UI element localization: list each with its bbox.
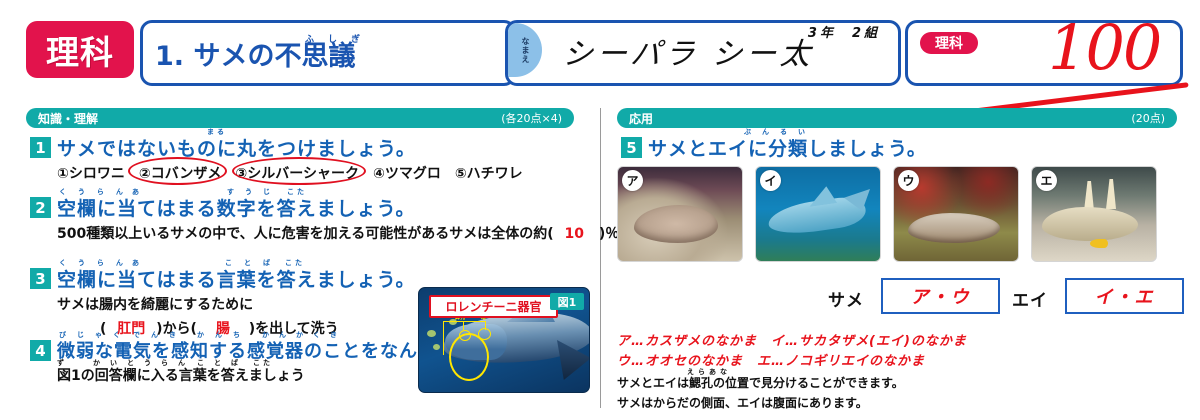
question-4-ruby-3: かんち <box>197 330 251 340</box>
question-3-ruby-1: くうらん <box>59 258 135 268</box>
note-black-line-1: えらあな サメとエイは鰓孔の位置で見分けることができます。 <box>617 374 904 391</box>
score-subject-badge: 理科 <box>920 32 978 54</box>
question-3-ruby-2: あ <box>132 258 142 268</box>
question-1-title-text: サメではないものに丸をつけましょう。 <box>57 138 416 160</box>
photo-badge-b: イ <box>760 170 781 191</box>
question-number-5: 5 <box>621 137 642 158</box>
question-2-ruby-2: あ <box>132 187 142 197</box>
figure-1-image: 鼻孔 眼 ロレンチーニ器官 図1 <box>418 287 590 393</box>
leader-line-2 <box>443 321 485 322</box>
question-4-body-ruby-3: ことば <box>197 358 248 368</box>
name-tab: なまえ <box>508 23 542 77</box>
worksheet-header: 理科 ふしぎ 1. サメの不思議 なまえ 3年 2組 シーパラ シー太 理科 1… <box>0 0 1200 100</box>
question-4-body-ruby-2: かいとうらん <box>93 358 195 368</box>
red-circle-option-2 <box>128 157 227 185</box>
question-4-ruby-1: びじゃく <box>59 330 131 340</box>
question-number-1: 1 <box>30 137 51 158</box>
leader-line-1 <box>443 321 444 355</box>
question-4-body: ず かいとうらん ことば こた 図1の回答欄に入る言葉を答えましょう <box>57 365 305 385</box>
question-4-body-ruby-1: ず <box>57 358 67 368</box>
left-column: 知識・理解 (各20点×4) 1 まる サメではないものに丸をつけましょう。 ①… <box>0 100 594 420</box>
photo-badge-d: エ <box>1036 170 1057 191</box>
question-3-ruby-4: こた <box>285 258 305 268</box>
question-4-ruby-2: でんき <box>133 330 187 340</box>
answer-label-ei: エイ <box>1012 286 1048 311</box>
figure-1-label-box: ロレンチーニ器官 <box>429 295 558 318</box>
worksheet-title-box: ふしぎ 1. サメの不思議 <box>140 20 516 86</box>
sawfish-rostrum-2 <box>1106 179 1116 209</box>
question-1-ruby: まる <box>207 127 227 137</box>
name-field-box[interactable]: なまえ 3年 2組 シーパラ シー太 <box>505 20 901 86</box>
section-points-application: (20点) <box>1131 110 1165 126</box>
bubble-decor-1 <box>427 330 436 337</box>
question-2-ruby-4: こた <box>287 187 307 197</box>
worksheet-page: 理科 ふしぎ 1. サメの不思議 なまえ 3年 2組 シーパラ シー太 理科 1… <box>0 0 1200 420</box>
name-tab-label: なまえ <box>520 37 530 64</box>
question-number-2: 2 <box>30 197 51 218</box>
column-divider <box>600 108 601 408</box>
score-box: 理科 100 <box>905 20 1183 86</box>
section-label-application: 応用 <box>629 110 653 127</box>
section-label: 知識・理解 <box>38 110 98 127</box>
wobbegong-shape-c <box>908 213 1000 243</box>
question-4-body-ruby-4: こた <box>253 358 273 368</box>
question-5-ruby: ぶんるい <box>744 127 816 137</box>
specimen-photo-d[interactable]: エ <box>1031 166 1157 262</box>
question-3-title-text: 空欄に当てはまる言葉を答えましょう。 <box>57 269 415 291</box>
page-title: ふしぎ 1. サメの不思議 <box>155 34 355 73</box>
note-black-line-2: サメはからだの側面、エイは腹面にあります。 <box>617 394 868 411</box>
nostril-circle <box>459 330 471 341</box>
section-header-knowledge: 知識・理解 (各20点×4) <box>26 108 574 128</box>
title-label: 1. サメの不思議 <box>155 41 355 72</box>
title-ruby: ふしぎ <box>305 32 374 45</box>
figure-1-badge: 図1 <box>550 293 584 310</box>
note-red-line-1: ア…カスザメのなかま イ…サカタザメ(エイ)のなかま <box>617 330 967 349</box>
question-5-title-text: サメとエイに分類しましょう。 <box>648 138 927 160</box>
note-red-line-2: ウ…オオセのなかま エ…ノコギリエイのなかま <box>617 350 925 369</box>
question-2-body: 500種類以上いるサメの中で、人に危害を加える可能性があるサメは全体の約( 10… <box>57 223 619 243</box>
lorenzini-highlight-circle <box>449 333 489 381</box>
red-circle-option-3 <box>232 157 366 185</box>
question-5-title: ぶんるい サメとエイに分類しましょう。 <box>648 134 927 161</box>
specimen-photo-a[interactable]: ア <box>617 166 743 262</box>
note-black-line-1-text: サメとエイは鰓孔の位置で見分けることができます。 <box>617 376 904 390</box>
question-3-title: くうらん あ ことば こた 空欄に当てはまる言葉を答えましょう。 <box>57 265 415 292</box>
leader-line-3 <box>463 321 464 330</box>
question-2-title-text: 空欄に当てはまる数字を答えましょう。 <box>57 198 415 220</box>
bubble-decor-2 <box>433 344 440 350</box>
figure-1-label-text: ロレンチーニ器官 <box>445 298 541 315</box>
section-points: (各20点×4) <box>501 110 562 126</box>
question-number-4: 4 <box>30 340 51 361</box>
score-value: 100 <box>1048 11 1160 84</box>
question-4-ruby-4: かんかくき <box>262 330 347 340</box>
question-2-body-before: 500種類以上いるサメの中で、人に危害を加える可能性があるサメは全体の約( <box>57 226 554 242</box>
class-value: 3年 2組 <box>808 22 880 41</box>
question-2-ruby-3: すうじ <box>227 187 281 197</box>
answer-value-same: ア・ウ <box>911 283 971 309</box>
question-3-body-line1: サメは腸内を綺麗にするために <box>57 294 253 314</box>
question-2-ruby-1: くうらん <box>59 187 135 197</box>
specimen-photo-c[interactable]: ウ <box>893 166 1019 262</box>
eye-circle <box>478 328 491 340</box>
subject-badge: 理科 <box>26 21 134 78</box>
answer-value-ei: イ・エ <box>1095 283 1155 309</box>
question-2-title: くうらん あ すうじ こた 空欄に当てはまる数字を答えましょう。 <box>57 194 415 221</box>
section-header-application: 応用 (20点) <box>617 108 1177 128</box>
sawfish-body-shape <box>1042 207 1138 241</box>
answer-box-same[interactable]: ア・ウ <box>881 278 1000 314</box>
answer-label-same: サメ <box>828 286 864 311</box>
photo-badge-a: ア <box>622 170 643 191</box>
student-name-value: シーパラ シー太 <box>561 29 815 73</box>
question-1-title: まる サメではないものに丸をつけましょう。 <box>57 134 416 161</box>
photo-badge-c: ウ <box>898 170 919 191</box>
question-3-ruby-3: ことば <box>225 258 282 268</box>
specimen-photo-b[interactable]: イ <box>755 166 881 262</box>
note-black-ruby: えらあな <box>687 367 731 377</box>
answer-box-ei[interactable]: イ・エ <box>1065 278 1184 314</box>
question-4-body-text: 図1の回答欄に入る言葉を答えましょう <box>57 368 305 384</box>
question-number-3: 3 <box>30 268 51 289</box>
question-2-answer: 10 <box>565 226 584 242</box>
small-fish-shape <box>1090 239 1108 248</box>
ray-shape-a <box>634 205 718 243</box>
